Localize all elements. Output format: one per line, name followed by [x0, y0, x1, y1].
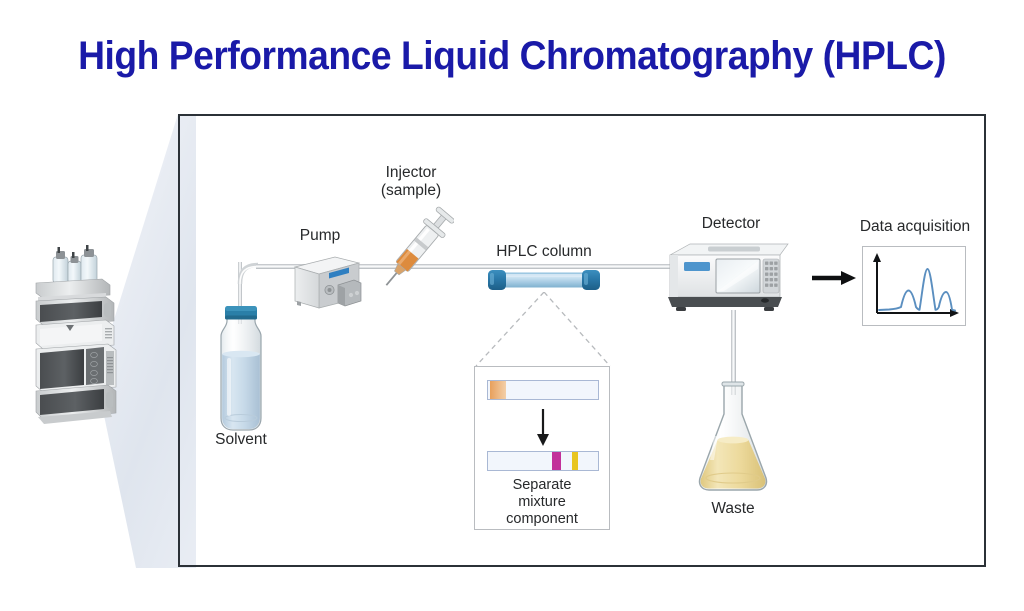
injector-label: Injector (sample): [356, 164, 466, 201]
detector-instrument-icon: [662, 241, 792, 313]
arrow-right-icon: [812, 270, 856, 286]
chromatogram-icon: [862, 246, 966, 326]
pump-label: Pump: [272, 227, 368, 245]
detector-label: Detector: [676, 215, 786, 233]
arrow-down-icon: [535, 409, 551, 447]
separation-inset-box: Separate mixture component: [474, 366, 610, 530]
sample-band-yellow: [572, 452, 579, 470]
hplc-instrument-stack-icon: [26, 245, 136, 445]
page-title: High Performance Liquid Chromatography (…: [36, 34, 988, 79]
data-acquisition-label: Data acquisition: [842, 218, 988, 236]
sample-band-magenta: [552, 452, 561, 470]
separated-sample-tube: [487, 451, 599, 471]
syringe-icon: [378, 202, 454, 298]
waste-label: Waste: [678, 500, 788, 518]
sample-band-orange: [490, 381, 505, 399]
inset-connector-lines: [470, 292, 616, 370]
solvent-bottle-icon: [205, 300, 277, 435]
erlenmeyer-flask-icon: [690, 378, 776, 500]
pump-icon: [291, 253, 363, 315]
inset-caption: Separate mixture component: [475, 477, 609, 528]
solvent-label: Solvent: [186, 431, 296, 449]
hplc-column-label: HPLC column: [488, 243, 600, 261]
mixed-sample-tube: [487, 380, 599, 400]
hplc-column-icon: [482, 268, 606, 292]
